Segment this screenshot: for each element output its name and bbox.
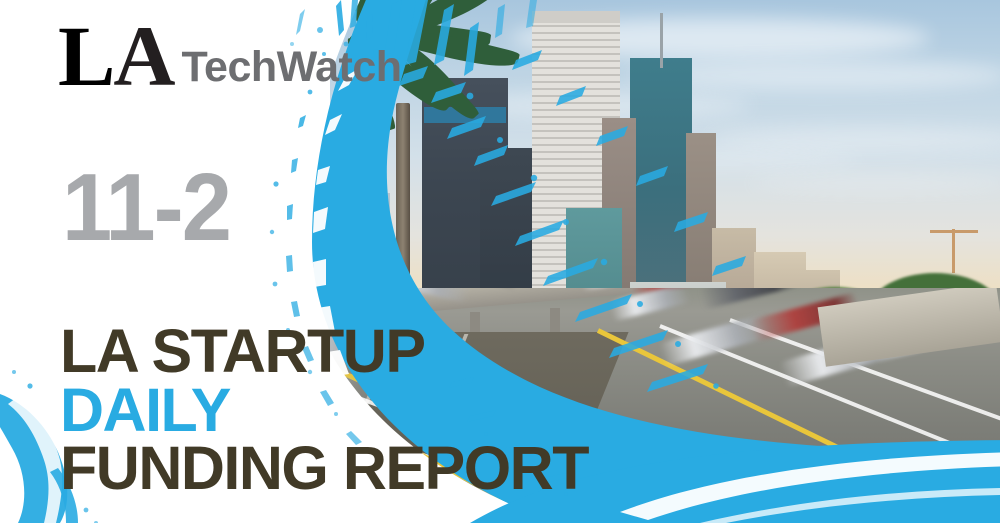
crane — [952, 229, 955, 273]
logo-letter-l: L — [58, 18, 113, 95]
cloud — [750, 175, 1000, 191]
logo-wordmark: TechWatch — [181, 43, 401, 92]
page-title: LA STARTUP DAILY FUNDING REPORT — [60, 322, 588, 498]
building-antenna — [660, 13, 663, 68]
car — [699, 288, 801, 310]
headline-line-1: LA STARTUP — [60, 322, 588, 381]
latechwatch-logo[interactable]: LA TechWatch — [58, 18, 402, 96]
logo-letter-a: A — [113, 18, 173, 95]
headline-line-3: FUNDING REPORT — [60, 439, 588, 498]
date-stamp: 11-2 — [62, 160, 230, 256]
headline-line-2: DAILY — [60, 381, 588, 440]
poster-canvas: LA TechWatch 11-2 LA STARTUP DAILY FUNDI… — [0, 0, 1000, 523]
building-top — [532, 11, 620, 23]
